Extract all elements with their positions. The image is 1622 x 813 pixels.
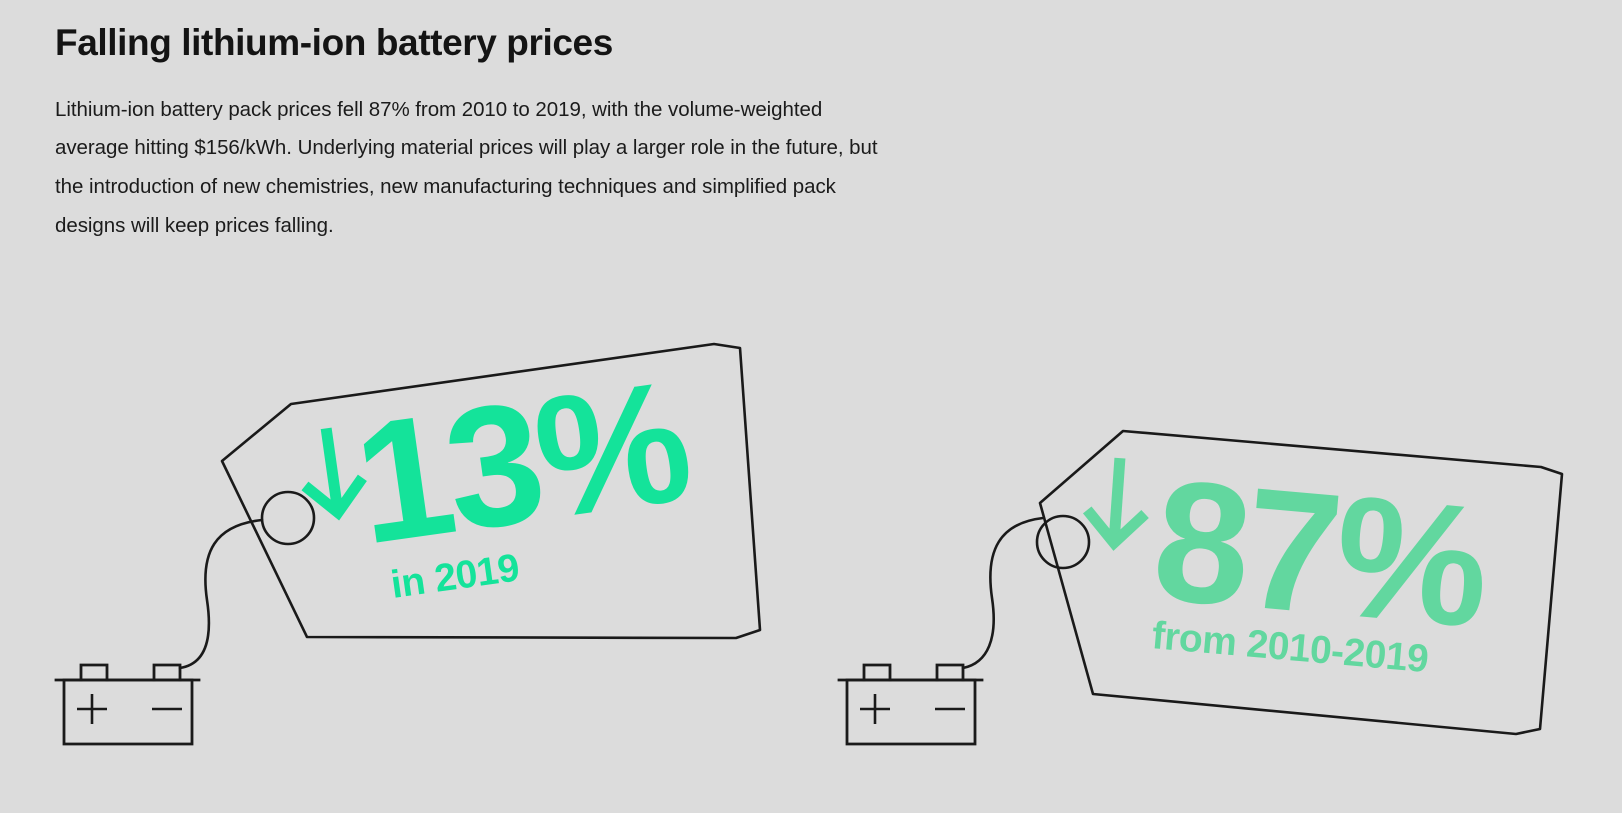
battery-plus-icon [77,694,107,724]
battery-terminal-positive [81,665,107,680]
tag-string-right [963,518,1043,668]
intro-paragraph: Lithium-ion battery pack prices fell 87%… [55,91,900,246]
stat-caption-price-drop-decade: from 2010-2019 [1150,614,1430,681]
battery-plus-icon [860,694,890,724]
infographic-root: Falling lithium-ion battery prices Lithi… [0,0,1622,813]
intro-text-block: Falling lithium-ion battery prices Lithi… [55,22,955,246]
stat-group-price-drop-2019: 13% in 2019 [56,344,760,744]
tag-string-left [180,520,262,668]
stat-value-price-drop-2019: 13% [344,345,698,581]
battery-body [64,680,192,744]
stat-value-price-drop-decade: 87% [1147,444,1493,664]
page-title: Falling lithium-ion battery prices [55,22,955,65]
battery-terminal-positive [864,665,890,680]
price-tag-shape-right [1040,431,1562,734]
battery-terminal-negative [937,665,963,680]
stat-group-price-drop-decade: 87% from 2010-2019 [839,431,1562,744]
tag-hole-right [1037,516,1089,568]
battery-icon-left [56,665,199,744]
battery-body [847,680,975,744]
down-arrow-icon-right [1085,456,1149,545]
battery-terminal-negative [154,665,180,680]
price-tag-shape-left [222,344,760,638]
tag-hole-left [262,492,314,544]
stat-caption-price-drop-2019: in 2019 [388,546,521,607]
down-arrow-icon-left [297,424,366,516]
battery-icon-right [839,665,982,744]
